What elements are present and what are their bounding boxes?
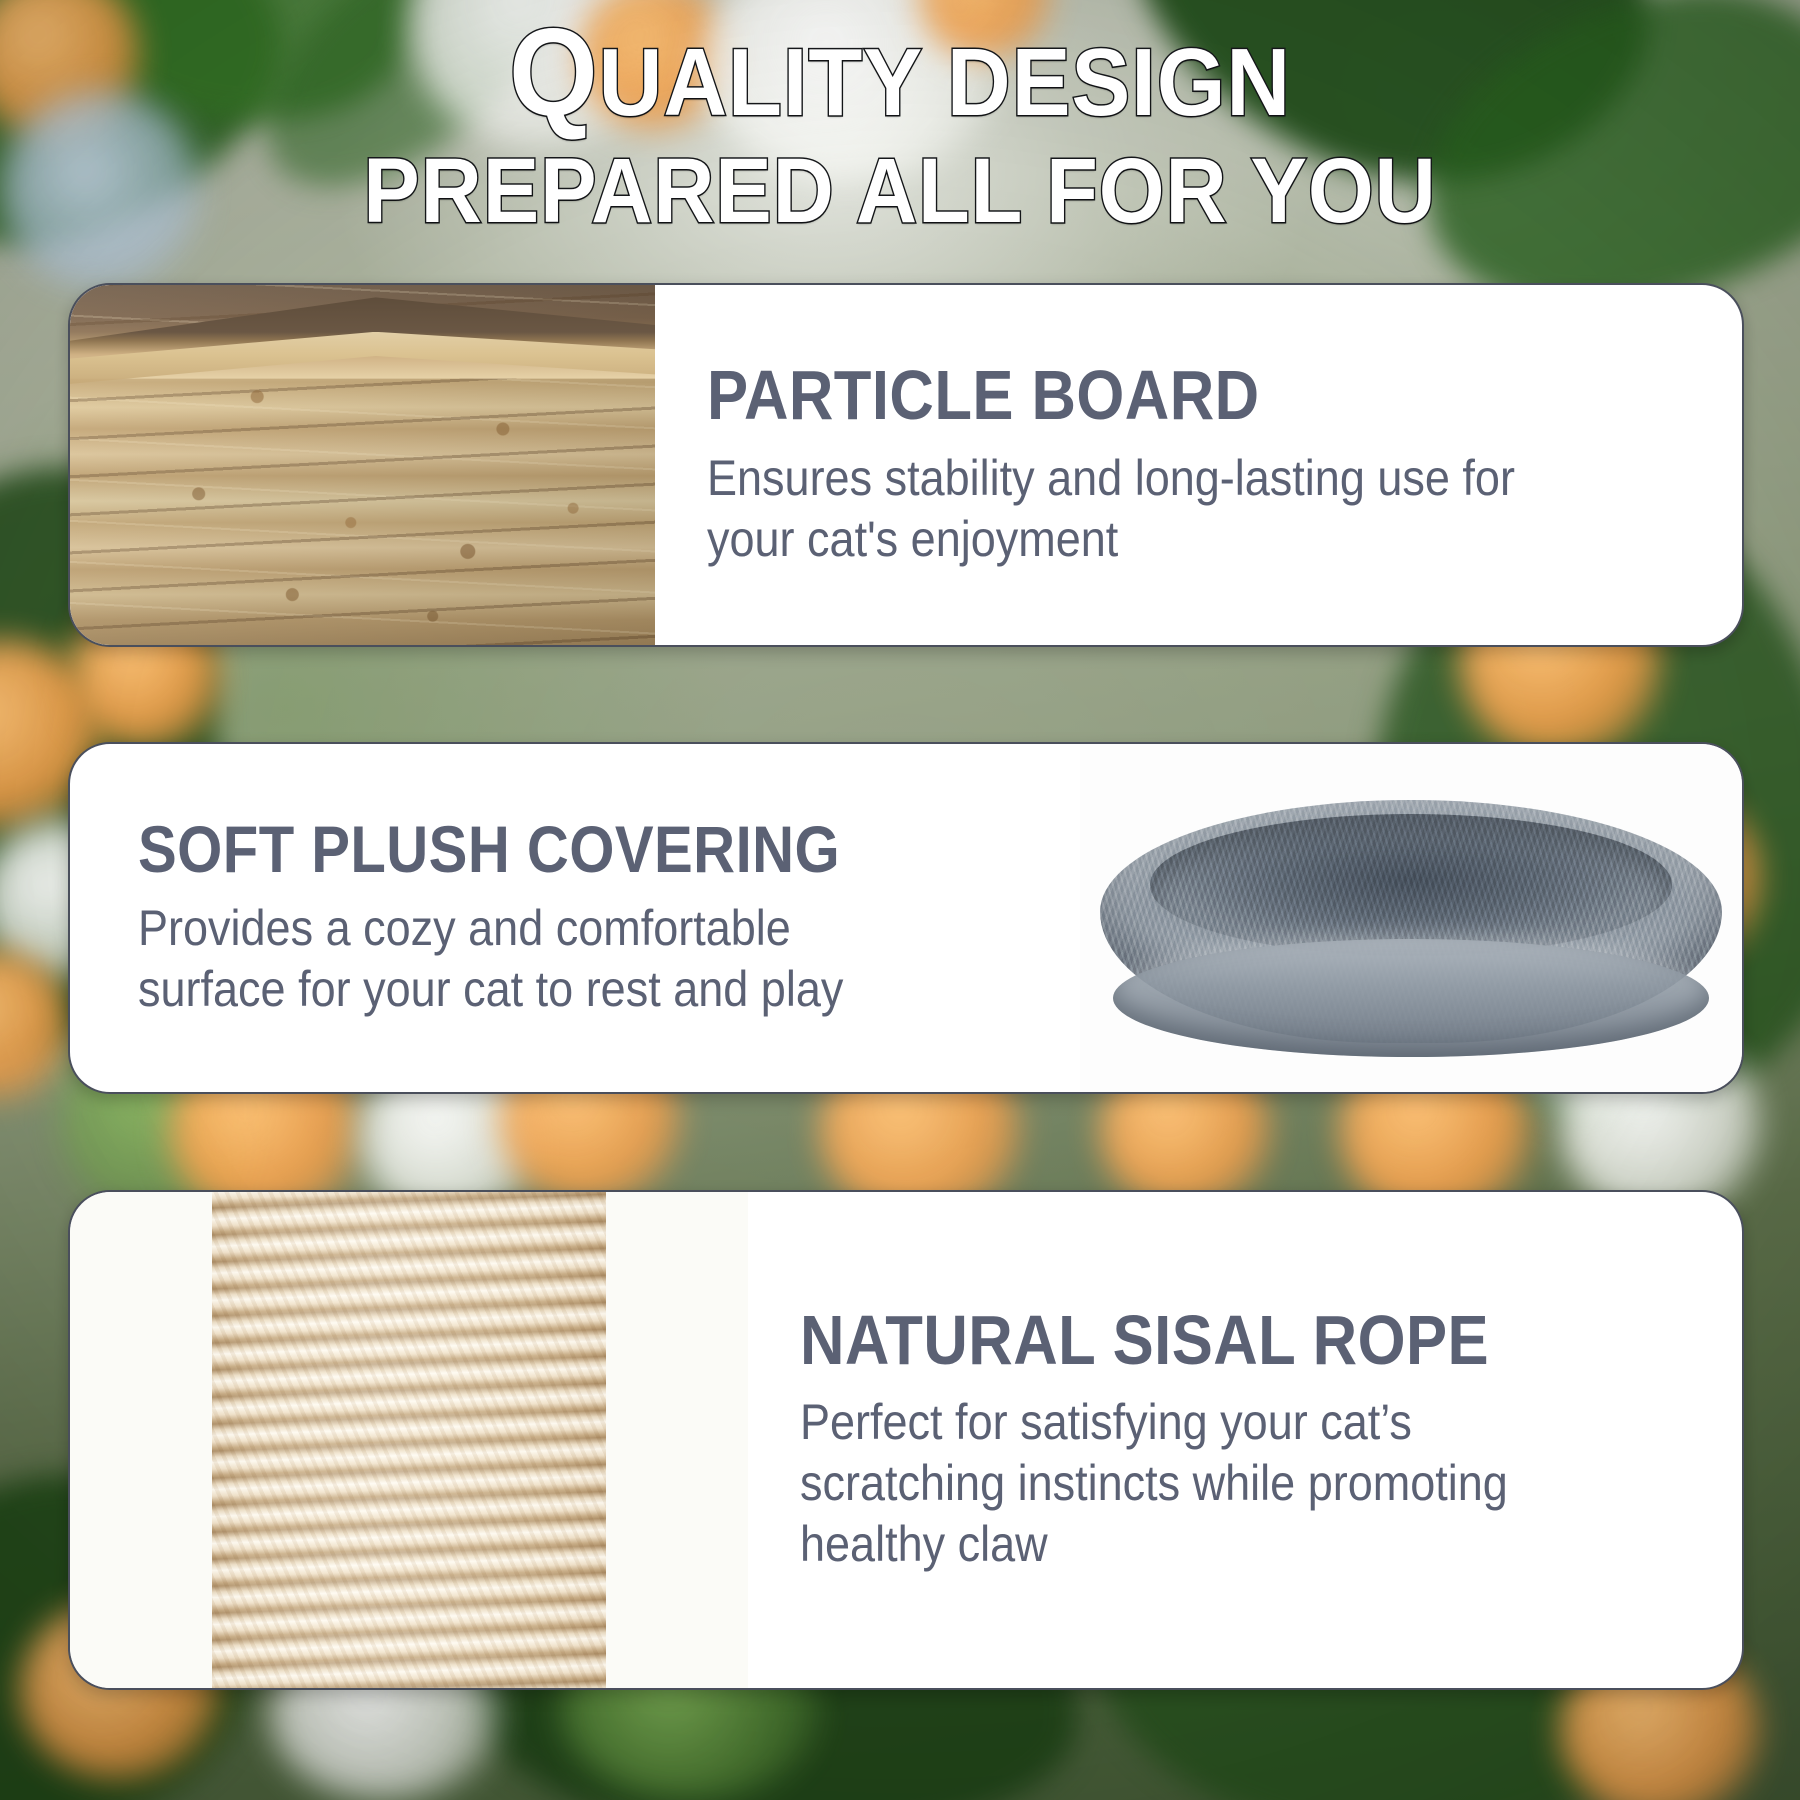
page-header: QUALITY DESIGN PREPARED ALL FOR YOU — [0, 24, 1800, 237]
plush-bed-backdrop — [1080, 744, 1742, 1092]
feature-description: Perfect for satisfying your cat’s scratc… — [800, 1392, 1612, 1575]
sisal-rope-backdrop — [70, 1192, 748, 1688]
infographic-canvas: QUALITY DESIGN PREPARED ALL FOR YOU PART… — [0, 0, 1800, 1800]
feature-card-body: PARTICLE BOARD Ensures stability and lon… — [655, 285, 1742, 645]
feature-title: PARTICLE BOARD — [707, 360, 1583, 431]
page-title-dropcap: Q — [509, 4, 599, 142]
page-title-line-1: QUALITY DESIGN — [72, 24, 1728, 131]
feature-card-body: SOFT PLUSH COVERING Provides a cozy and … — [70, 744, 1080, 1092]
feature-title: SOFT PLUSH COVERING — [138, 816, 941, 883]
particle-board-photo — [70, 285, 655, 645]
feature-card-body: NATURAL SISAL ROPE Perfect for satisfyin… — [748, 1192, 1742, 1688]
feature-card-natural-sisal-rope: NATURAL SISAL ROPE Perfect for satisfyin… — [68, 1190, 1744, 1690]
sisal-rope-post — [212, 1192, 605, 1688]
feature-description: Ensures stability and long-lasting use f… — [707, 448, 1571, 570]
feature-title: NATURAL SISAL ROPE — [800, 1305, 1594, 1376]
page-title-line-2: PREPARED ALL FOR YOU — [72, 145, 1728, 237]
plush-bed-rim — [1113, 939, 1709, 1057]
grey-plush-bed-photo — [1080, 744, 1742, 1092]
feature-description: Provides a cozy and comfortable surface … — [138, 898, 948, 1020]
page-title-line-1-rest: UALITY DESIGN — [599, 29, 1291, 136]
sisal-rope-post-photo — [70, 1192, 748, 1688]
feature-card-particle-board: PARTICLE BOARD Ensures stability and lon… — [68, 283, 1744, 647]
feature-card-soft-plush-covering: SOFT PLUSH COVERING Provides a cozy and … — [68, 742, 1744, 1094]
